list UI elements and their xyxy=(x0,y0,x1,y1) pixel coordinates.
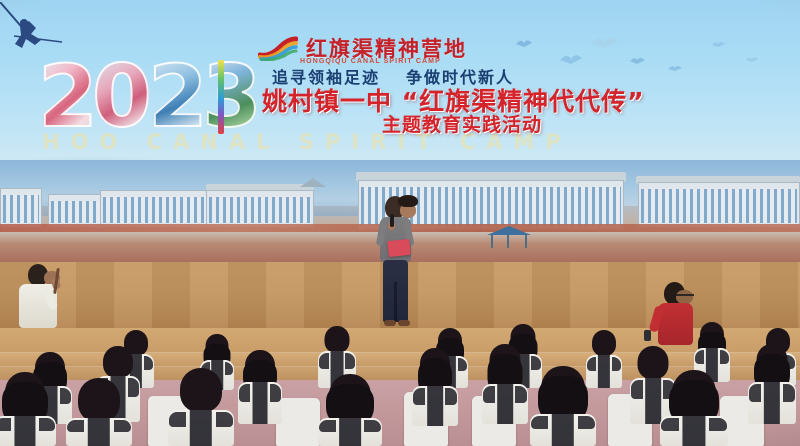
year-digit: 2 xyxy=(148,58,208,136)
student-seated xyxy=(530,366,596,446)
student-uniform xyxy=(318,418,382,446)
banner-title-sub: 主题教育实践活动 xyxy=(382,110,782,137)
speaker-head xyxy=(385,196,405,219)
left-man-head xyxy=(28,264,48,286)
student-seated xyxy=(482,344,528,424)
dove-icon xyxy=(592,34,618,49)
student-seated xyxy=(66,378,132,446)
student-seated xyxy=(238,350,282,424)
student-speaker xyxy=(372,196,418,332)
staff-member-left xyxy=(14,264,62,338)
student-seated xyxy=(0,372,56,446)
student-seated xyxy=(660,370,728,446)
campus-building xyxy=(206,190,314,228)
student-uniform xyxy=(0,416,56,446)
student-uniform xyxy=(168,410,234,446)
camp-logo-icon xyxy=(258,35,298,61)
student-head xyxy=(325,326,350,353)
speaker-pants xyxy=(383,260,408,322)
student-seated xyxy=(748,344,796,424)
dove-icon xyxy=(516,38,532,48)
glasses-icon xyxy=(675,294,694,298)
student-head xyxy=(180,368,222,412)
student-uniform xyxy=(238,382,282,424)
student-uniform xyxy=(482,384,528,424)
year-2023-collage: 2 0 2 3 xyxy=(38,58,268,136)
student-uniform xyxy=(530,414,596,446)
student-head xyxy=(592,330,616,356)
student-uniform xyxy=(660,416,728,446)
student-uniform xyxy=(412,386,458,426)
student-seated xyxy=(412,348,458,426)
speaker-shoe xyxy=(384,320,396,326)
year-digit: 0 xyxy=(92,58,152,136)
student-seated xyxy=(168,368,234,446)
dove-icon xyxy=(746,56,758,63)
campus-building xyxy=(638,182,800,228)
campus-pavilion xyxy=(487,226,531,248)
speaker-shoe xyxy=(398,320,410,326)
campus-building xyxy=(0,188,42,228)
microphone-icon xyxy=(390,214,394,227)
student-seated xyxy=(318,374,382,446)
rainbow-accent-bar xyxy=(218,60,224,134)
assembly-photo-scene: 2 0 2 3 HOO CANAL SPIRIT CAMP 红旗渠精神营地 HO… xyxy=(0,0,800,446)
right-man-head xyxy=(664,282,685,305)
student-uniform xyxy=(66,418,132,446)
student-head xyxy=(78,378,120,422)
chair xyxy=(276,398,320,446)
year-digit: 2 xyxy=(38,58,98,136)
speaker-hair xyxy=(398,195,418,207)
dove-icon xyxy=(712,40,725,48)
student-uniform xyxy=(748,382,796,424)
campus-building xyxy=(100,190,220,228)
year-digit: 3 xyxy=(202,58,262,136)
student-head xyxy=(103,346,133,378)
smartphone-icon xyxy=(644,330,651,341)
red-folder xyxy=(387,239,411,257)
